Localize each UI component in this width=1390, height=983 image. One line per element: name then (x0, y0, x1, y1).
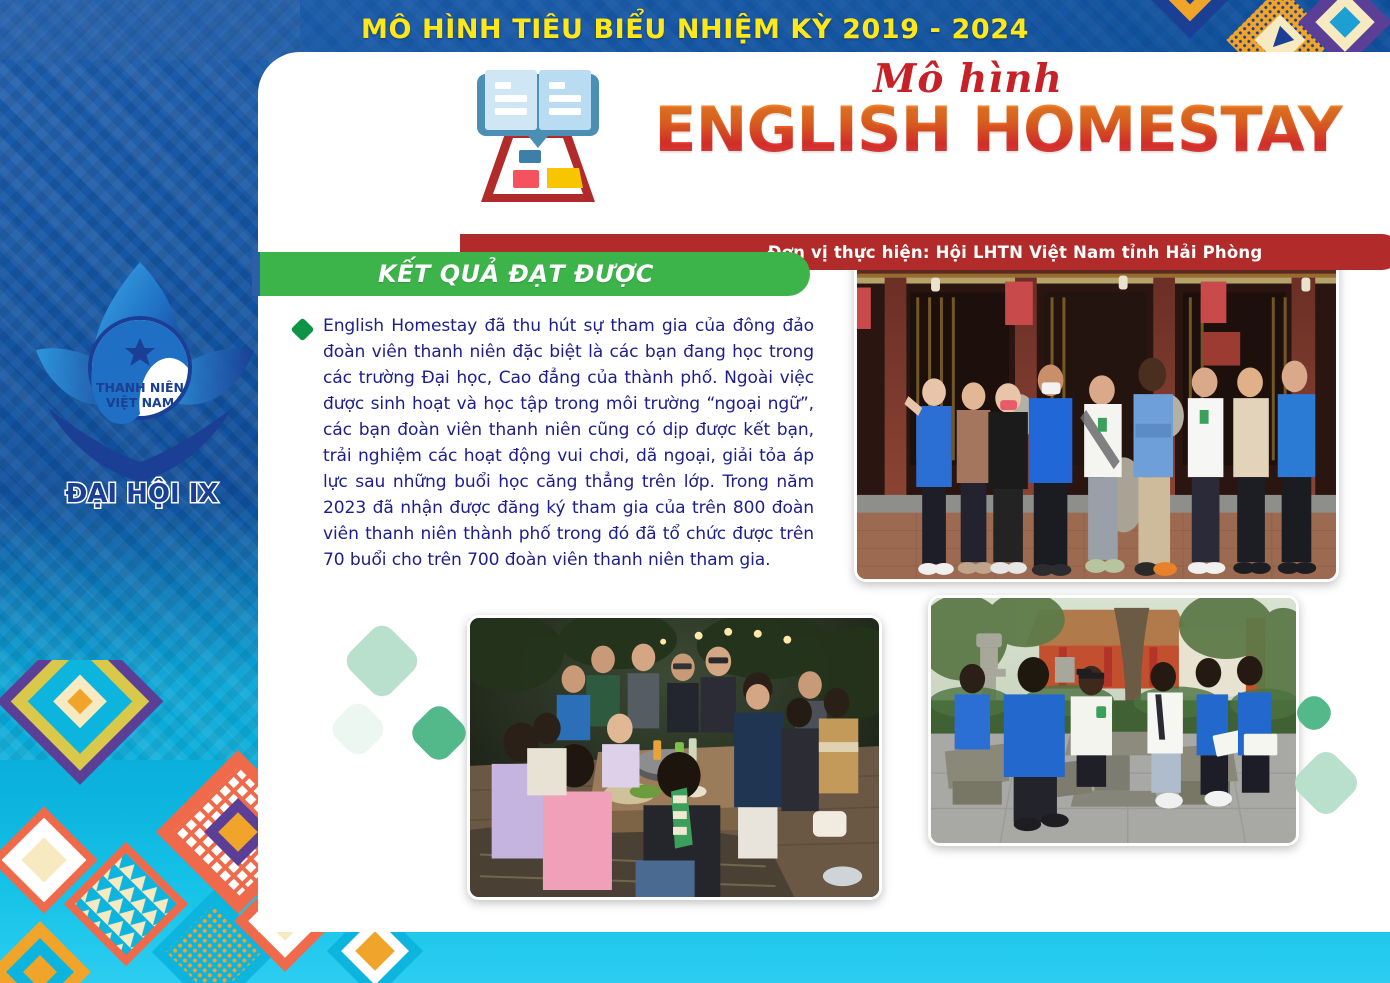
page-title: MÔ HÌNH TIÊU BIỂU NHIỆM KỲ 2019 - 2024 (361, 14, 1029, 45)
photo-outdoor-study-circle (928, 595, 1299, 846)
youth-union-emblem: THANH NIÊN VIỆT NAM ĐẠI HỘI IX (30, 250, 260, 510)
emblem-line1: THANH NIÊN (96, 380, 184, 395)
decor-green-diamond-2 (327, 698, 389, 760)
emblem-congress: ĐẠI HỘI IX (66, 477, 219, 509)
decor-green-diamond-5 (1289, 746, 1363, 820)
hero-section: Mô hình ENGLISH HOMESTAY Đơn vị thực hiệ… (258, 52, 1390, 227)
hero-text-block: Mô hình ENGLISH HOMESTAY (618, 60, 1378, 162)
decor-green-diamond-3 (406, 700, 471, 765)
photo-evening-gathering (467, 615, 882, 900)
content-card: Mô hình ENGLISH HOMESTAY Đơn vị thực hiệ… (258, 52, 1390, 932)
decor-green-diamond-1 (341, 620, 423, 702)
hero-main-title: ENGLISH HOMESTAY (618, 97, 1378, 162)
green-banner-accent (252, 252, 260, 296)
results-body-text: English Homestay đã thu hút sự tham gia … (323, 314, 814, 574)
page-header-bar: MÔ HÌNH TIÊU BIỂU NHIỆM KỲ 2019 - 2024 (0, 0, 1390, 58)
bullet-diamond-icon (290, 317, 314, 341)
photo-group-at-temple (854, 245, 1339, 582)
results-section-label: KẾT QUẢ ĐẠT ĐƯỢC (378, 260, 654, 288)
results-paragraph-block: English Homestay đã thu hút sự tham gia … (294, 314, 814, 574)
results-section-banner: KẾT QUẢ ĐẠT ĐƯỢC (258, 252, 810, 296)
emblem-line2: VIỆT NAM (106, 395, 174, 410)
